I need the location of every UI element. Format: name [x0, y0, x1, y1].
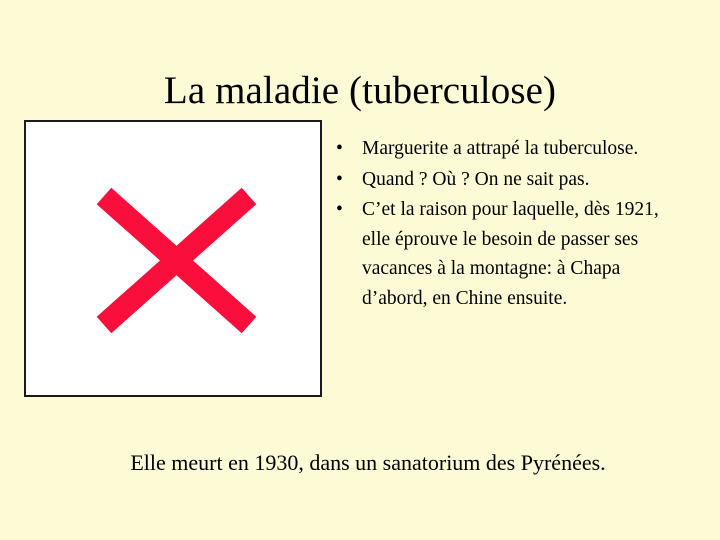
bullet-text: Marguerite a attrapé la tuberculose.	[362, 134, 684, 164]
bullet-text: C’et la raison pour laquelle, dès 1921, …	[362, 195, 684, 313]
bullet-marker-icon: •	[336, 195, 343, 225]
slide-canvas: La maladie (tuberculose) • Marguerite a …	[0, 0, 720, 540]
bullet-text: Quand ? Où ? On ne sait pas.	[362, 165, 684, 195]
bullet-marker-icon: •	[336, 165, 343, 195]
slide-caption: Elle meurt en 1930, dans un sanatorium d…	[30, 448, 706, 478]
broken-image-placeholder	[24, 120, 322, 397]
slide-title: La maladie (tuberculose)	[40, 68, 680, 114]
bullet-marker-icon: •	[336, 134, 343, 164]
red-x-icon	[26, 122, 320, 395]
list-item: • Quand ? Où ? On ne sait pas.	[332, 165, 684, 195]
list-item: • C’et la raison pour laquelle, dès 1921…	[332, 195, 684, 313]
list-item: • Marguerite a attrapé la tuberculose.	[332, 134, 684, 164]
bullet-list: • Marguerite a attrapé la tuberculose. •…	[332, 134, 684, 314]
